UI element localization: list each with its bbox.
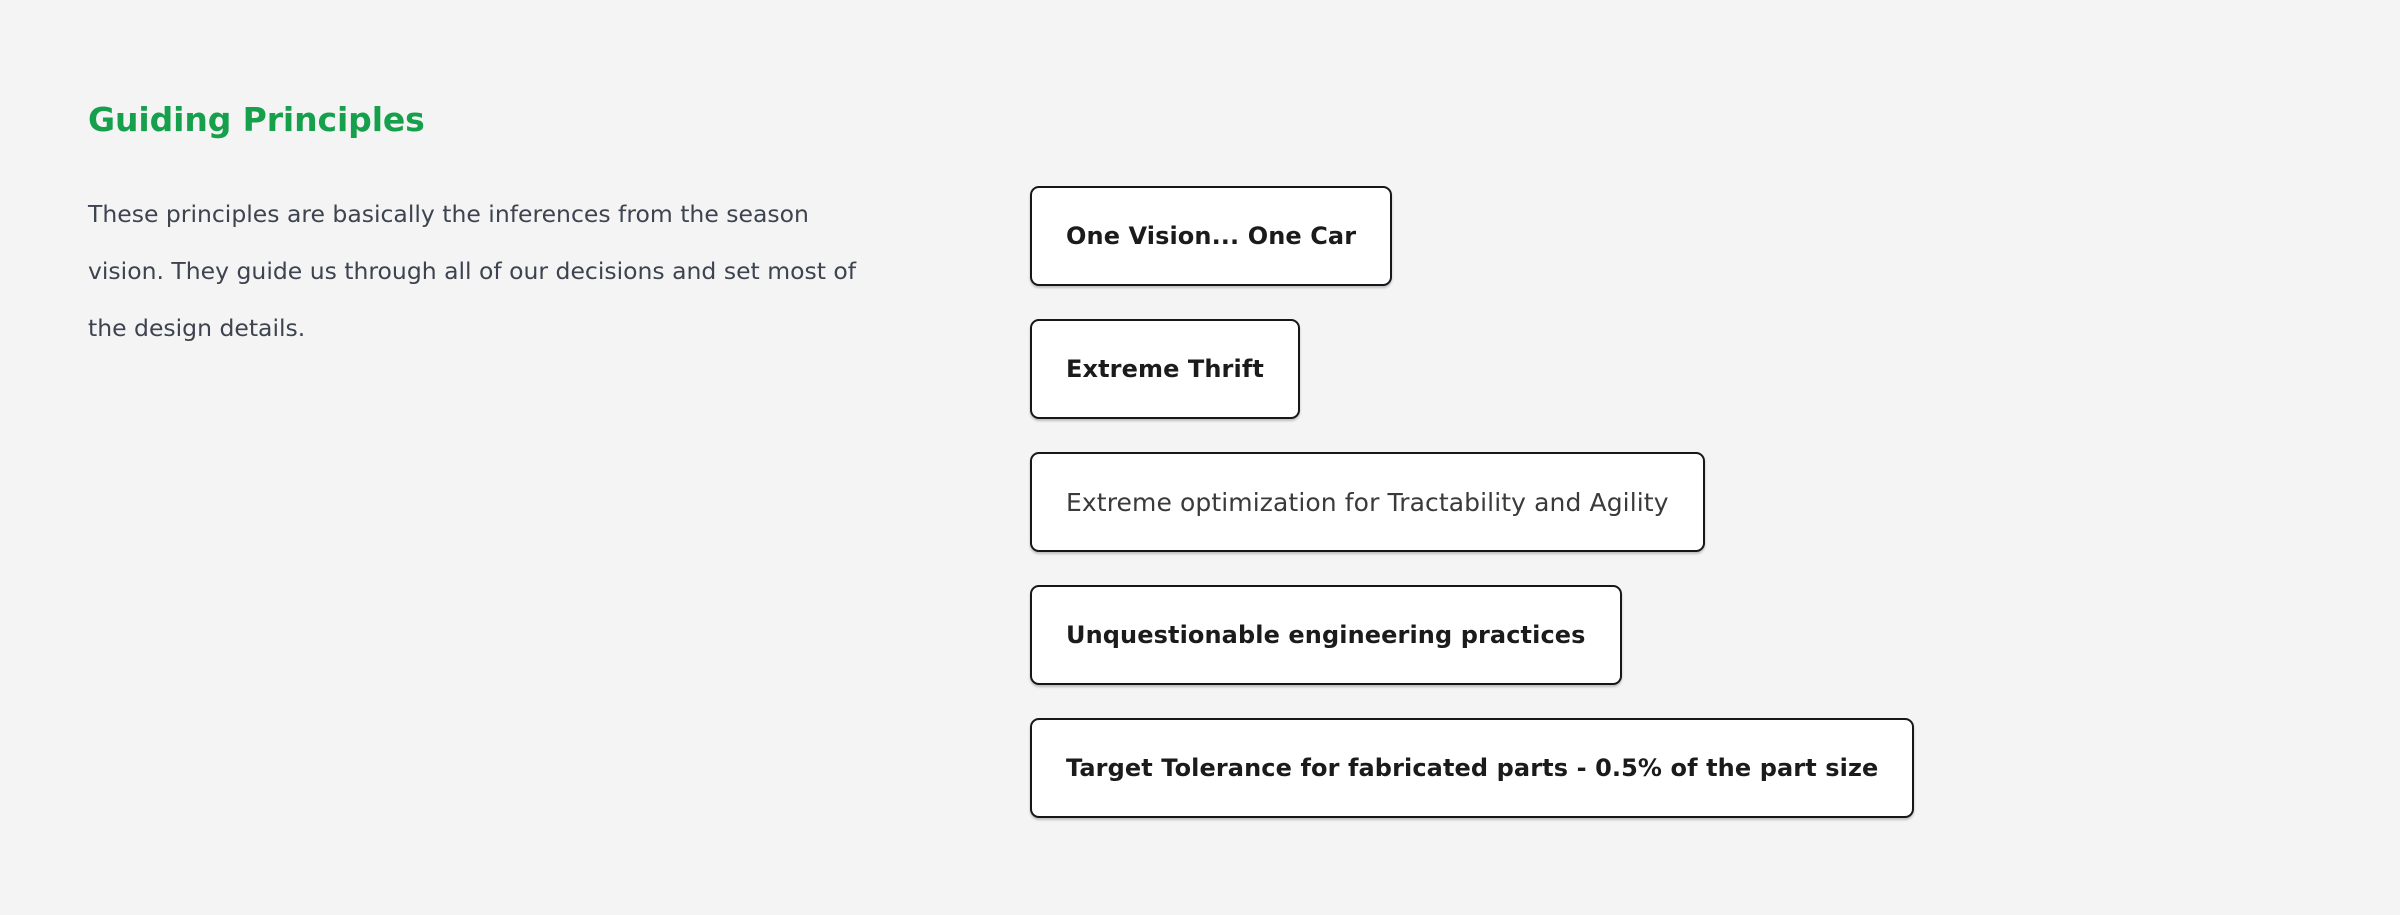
principle-card-1[interactable]: One Vision... One Car	[1030, 186, 1392, 286]
principle-card-label: Unquestionable engineering practices	[1066, 623, 1586, 647]
principle-card-label: Target Tolerance for fabricated parts - …	[1066, 756, 1878, 780]
guiding-principles-page: Guiding Principles These principles are …	[0, 0, 2400, 915]
principle-card-2[interactable]: Extreme Thrift	[1030, 319, 1300, 419]
page-title: Guiding Principles	[88, 100, 888, 140]
principle-card-4[interactable]: Unquestionable engineering practices	[1030, 585, 1622, 685]
principle-card-label: One Vision... One Car	[1066, 224, 1356, 248]
principle-card-label: Extreme Thrift	[1066, 357, 1264, 381]
principle-card-label: Extreme optimization for Tractability an…	[1066, 490, 1669, 515]
principles-list: One Vision... One Car Extreme Thrift Ext…	[1030, 186, 1914, 818]
principle-card-3[interactable]: Extreme optimization for Tractability an…	[1030, 452, 1705, 552]
principle-card-5[interactable]: Target Tolerance for fabricated parts - …	[1030, 718, 1914, 818]
intro-paragraph: These principles are basically the infer…	[88, 186, 858, 357]
intro-column: Guiding Principles These principles are …	[88, 100, 888, 357]
